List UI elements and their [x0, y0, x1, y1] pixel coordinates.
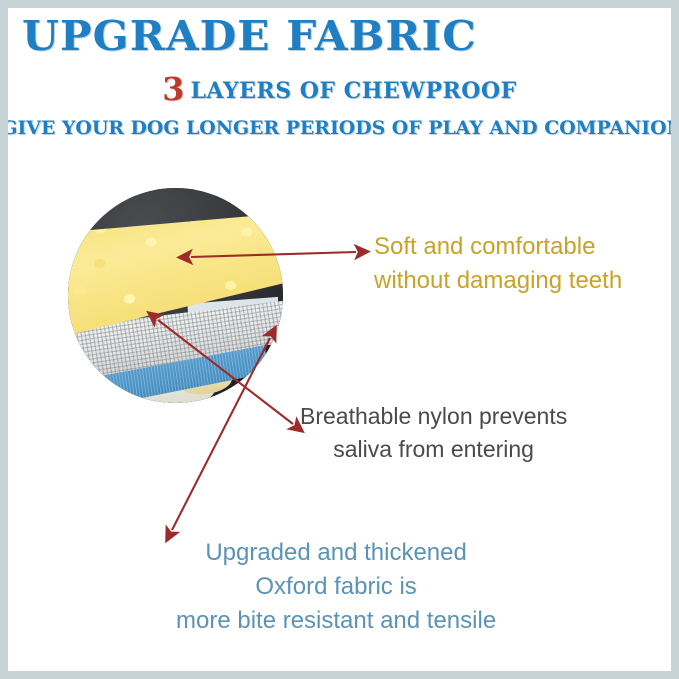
subtitle-text: LAYERS OF CHEWPROOF	[191, 78, 517, 104]
subtitle-line: 3LAYERS OF CHEWPROOF	[8, 70, 671, 108]
callout-line: Soft and comfortable	[374, 230, 622, 264]
callout-line: Breathable nylon prevents	[300, 400, 567, 433]
callout-line: Upgraded and thickened	[176, 536, 496, 570]
callout-soft-comfortable: Soft and comfortable without damaging te…	[374, 230, 622, 298]
fabric-layers-photo: INT T THIN	[68, 188, 283, 403]
page-title: UPGRADE FABRIC	[22, 12, 477, 60]
callout-breathable-nylon: Breathable nylon prevents saliva from en…	[300, 400, 567, 465]
callout-line: more bite resistant and tensile	[176, 604, 496, 638]
callout-line: saliva from entering	[300, 433, 567, 466]
infographic-page: UPGRADE FABRIC 3LAYERS OF CHEWPROOF GIVE…	[8, 8, 671, 671]
tagline: GIVE YOUR DOG LONGER PERIODS OF PLAY AND…	[8, 118, 671, 139]
callout-oxford-fabric: Upgraded and thickened Oxford fabric is …	[176, 536, 496, 638]
subtitle-number: 3	[162, 70, 184, 108]
callout-line: without damaging teeth	[374, 264, 622, 298]
callout-line: Oxford fabric is	[176, 570, 496, 604]
